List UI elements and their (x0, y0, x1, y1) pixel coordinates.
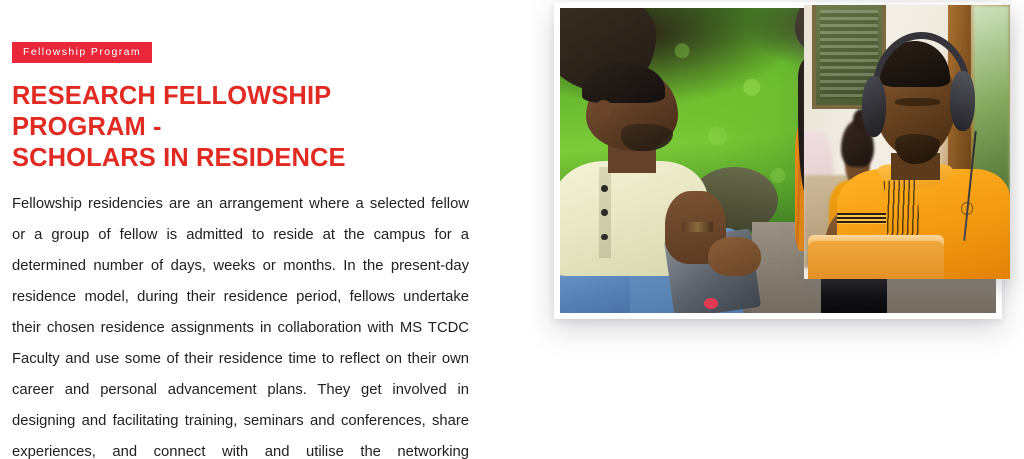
man-wristwatch (682, 222, 713, 232)
page-title-line-1: RESEARCH FELLOWSHIP PROGRAM - (12, 82, 331, 141)
laptop (808, 241, 944, 279)
man-shirt-button (601, 209, 608, 216)
man-hand (708, 237, 760, 277)
man-ear (595, 100, 612, 118)
red-accent-dot (704, 298, 718, 309)
page-title: RESEARCH FELLOWSHIP PROGRAM - SCHOLARS I… (12, 81, 470, 174)
headphones-earcup-icon (950, 71, 975, 131)
man-shirt-button (601, 185, 608, 192)
page-title-line-2: SCHOLARS IN RESIDENCE (12, 144, 346, 172)
text-column: Fellowship Program RESEARCH FELLOWSHIP P… (12, 0, 470, 459)
program-category-badge: Fellowship Program (12, 42, 152, 63)
foreground-man-eyebrow (895, 98, 940, 106)
headphones-earcup-icon (862, 76, 887, 136)
fellow-with-headphones-at-laptop-photo (804, 5, 1010, 279)
media-collage (548, 0, 1018, 360)
foreground-man-sleeve-band (837, 213, 886, 224)
program-description: Fellowship residencies are an arrangemen… (12, 189, 469, 459)
fellowship-program-section: Fellowship Program RESEARCH FELLOWSHIP P… (0, 0, 1024, 459)
